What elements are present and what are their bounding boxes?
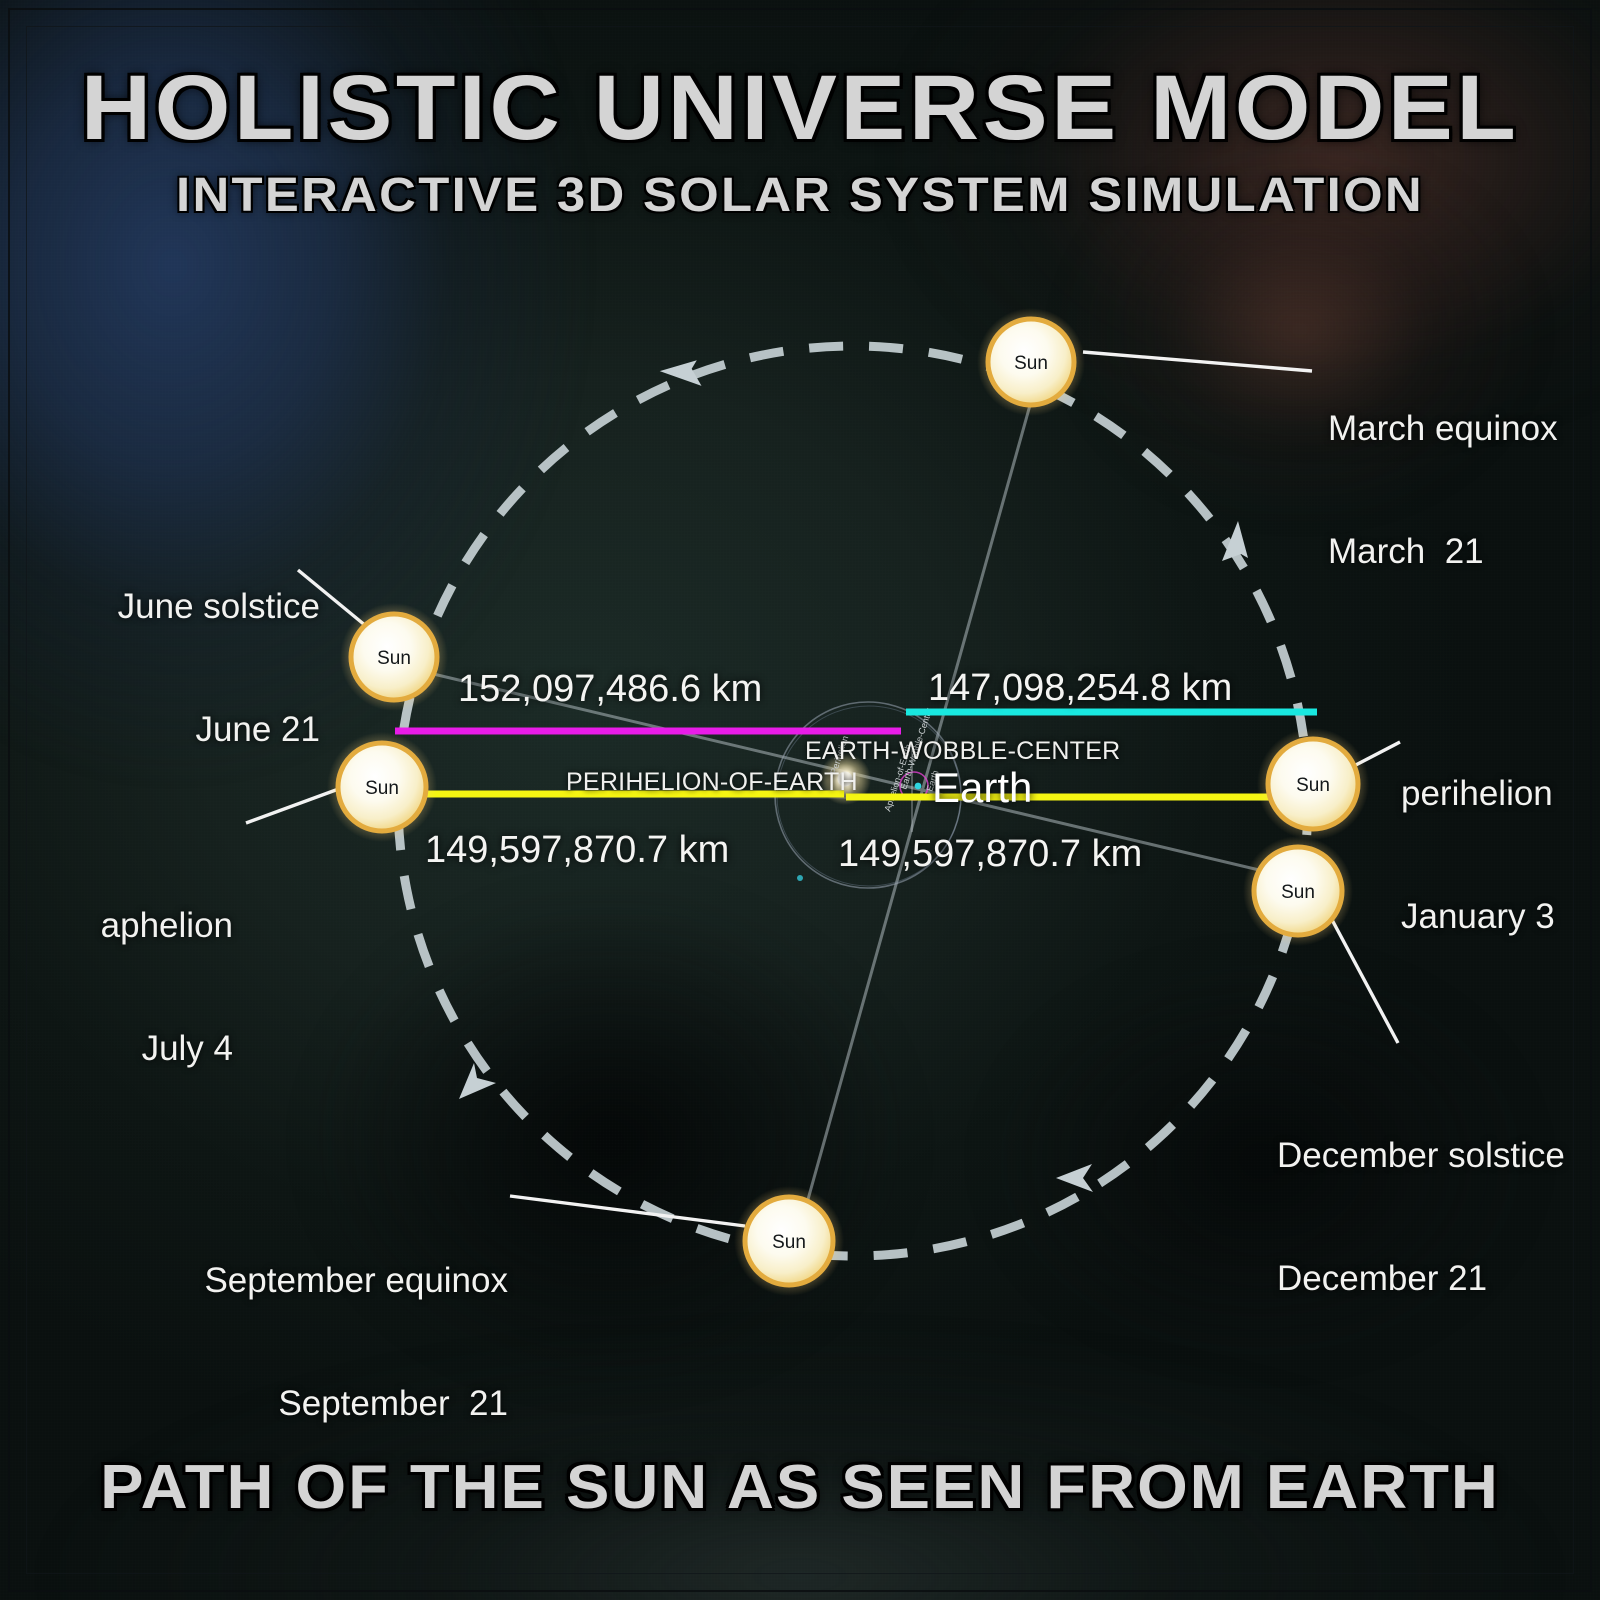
page-subtitle: INTERACTIVE 3D SOLAR SYSTEM SIMULATION [0, 168, 1600, 223]
annotation-line1: March equinox [1328, 408, 1558, 449]
sun-marker-september-equinox[interactable]: Sun [734, 1186, 844, 1296]
annotation-line1: June solstice [0, 586, 320, 627]
annotation-line2: July 4 [0, 1028, 233, 1069]
svg-text:Sun: Sun [1281, 882, 1315, 903]
annotation-line1: perihelion [1401, 773, 1555, 814]
svg-text:Sun: Sun [1296, 775, 1330, 796]
sun-marker-perihelion[interactable]: Sun [1257, 728, 1369, 840]
ecliptic-rays [387, 398, 1318, 1228]
annotation-december-solstice: December solstice December 21 [1277, 1052, 1565, 1382]
annotation-line2: June 21 [0, 709, 320, 750]
annotation-aphelion: aphelion July 4 [0, 822, 233, 1152]
svg-text:Sun: Sun [377, 648, 411, 669]
distance-label-mean-right: 149,597,870.7 km [838, 832, 1142, 877]
annotation-line1: aphelion [0, 905, 233, 946]
annotation-march-equinox: March equinox March 21 [1328, 325, 1558, 655]
annotation-line2: September 21 [0, 1383, 508, 1424]
svg-text:Sun: Sun [772, 1232, 806, 1253]
sun-marker-aphelion[interactable]: Sun [327, 732, 437, 842]
distance-label-mean-left: 149,597,870.7 km [425, 828, 729, 873]
annotation-line1: December solstice [1277, 1135, 1565, 1176]
sun-marker-march-equinox[interactable]: Sun [977, 308, 1085, 416]
distance-label-aphelion: 152,097,486.6 km [458, 667, 762, 712]
sun-marker-december-solstice[interactable]: Sun [1243, 836, 1353, 946]
label-earth: Earth [932, 763, 1032, 813]
annotation-september-equinox: September equinox September 21 [0, 1177, 508, 1507]
svg-text:Sun: Sun [365, 778, 399, 799]
simulation-canvas[interactable]: Perihelion Earth-Wobble-Center Earth Aph… [0, 0, 1600, 1600]
distance-label-perihelion: 147,098,254.8 km [928, 666, 1232, 711]
svg-text:Sun: Sun [1014, 353, 1048, 374]
label-perihelion-of-earth: PERIHELION-OF-EARTH [566, 768, 858, 798]
annotation-line2: March 21 [1328, 531, 1558, 572]
sun-marker-june-solstice[interactable]: Sun [340, 603, 448, 711]
page-title: HOLISTIC UNIVERSE MODEL [0, 56, 1600, 161]
annotation-line2: December 21 [1277, 1258, 1565, 1299]
annotation-line2: January 3 [1401, 896, 1555, 937]
annotation-perihelion: perihelion January 3 [1401, 690, 1555, 1020]
annotation-line1: September equinox [0, 1260, 508, 1301]
annotation-june-solstice: June solstice June 21 [0, 503, 320, 833]
